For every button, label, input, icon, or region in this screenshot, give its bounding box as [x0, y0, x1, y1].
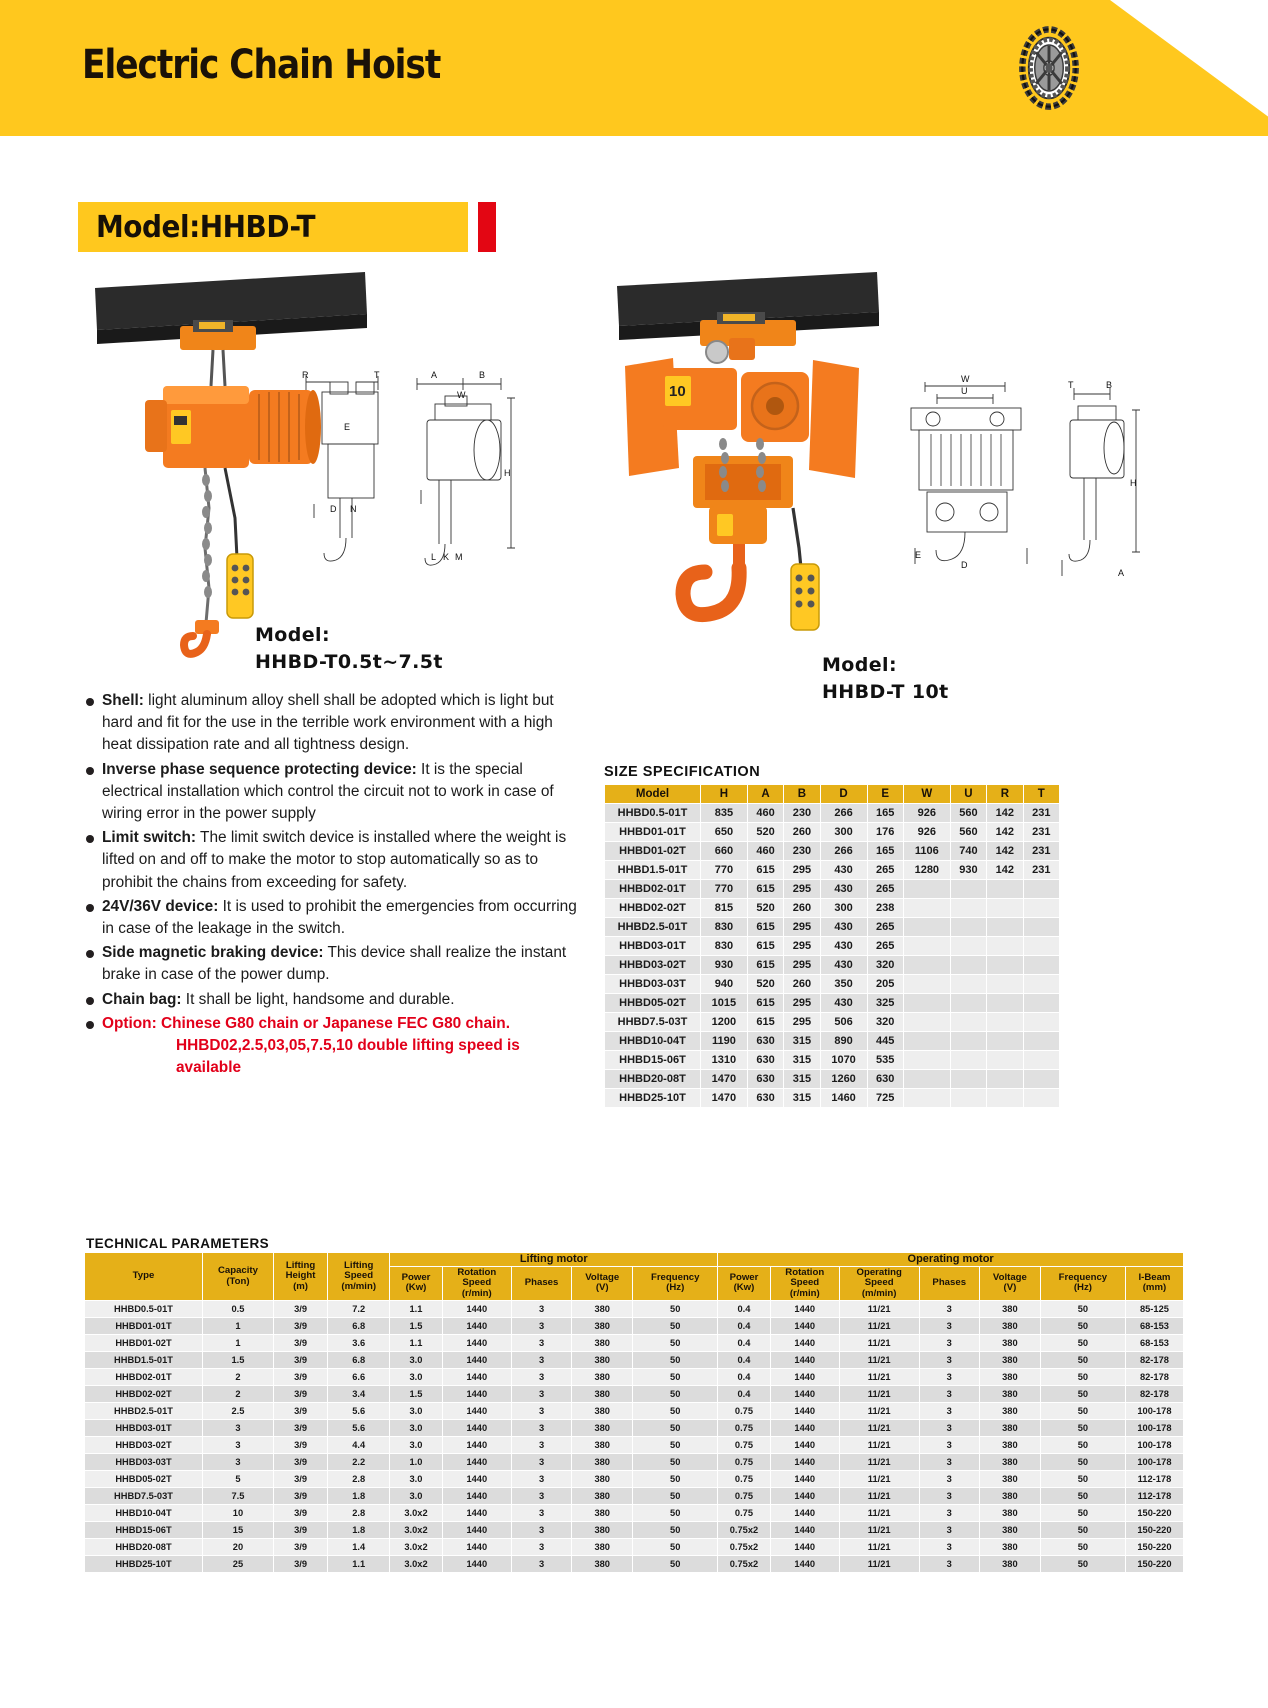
tech-value-cell: 50: [633, 1556, 718, 1573]
tech-value-cell: 50: [633, 1386, 718, 1403]
tech-value-cell: 50: [633, 1471, 718, 1488]
svg-text:A: A: [1118, 568, 1124, 578]
tech-value-cell: 3: [919, 1488, 979, 1505]
tech-value-cell: 3: [511, 1386, 571, 1403]
tech-value-cell: 3/9: [273, 1539, 327, 1556]
tech-value-cell: 1440: [442, 1403, 511, 1420]
feature-body: It shall be light, handsome and durable.: [182, 991, 455, 1008]
tech-value-cell: 3/9: [273, 1437, 327, 1454]
tech-value-cell: 0.75: [718, 1454, 770, 1471]
feature-text: Option: Chinese G80 chain or Japanese FE…: [102, 1013, 586, 1080]
tech-type-cell: HHBD0.5-01T: [85, 1301, 203, 1318]
size-value-cell: 630: [747, 1089, 783, 1108]
tech-col-header: Frequency(Hz): [633, 1266, 718, 1301]
tech-value-cell: 1.0: [390, 1454, 442, 1471]
tech-value-cell: 3/9: [273, 1318, 327, 1335]
tech-table-row: HHBD02-01T23/96.63.014403380500.4144011/…: [85, 1369, 1184, 1386]
svg-text:H: H: [1130, 478, 1137, 488]
tech-value-cell: 0.75: [718, 1505, 770, 1522]
svg-text:B: B: [1106, 380, 1112, 390]
tech-value-cell: 3: [919, 1471, 979, 1488]
tech-value-cell: 2.8: [328, 1505, 390, 1522]
tech-value-cell: 82-178: [1125, 1386, 1183, 1403]
tech-value-cell: 1.5: [390, 1318, 442, 1335]
size-value-cell: 231: [1023, 861, 1059, 880]
size-value-cell: [987, 956, 1023, 975]
tech-value-cell: 380: [572, 1403, 633, 1420]
size-value-cell: 460: [747, 804, 783, 823]
tech-type-cell: HHBD1.5-01T: [85, 1352, 203, 1369]
size-value-cell: 315: [784, 1032, 820, 1051]
svg-text:L: L: [431, 552, 436, 562]
svg-text:H: H: [504, 468, 511, 478]
tech-value-cell: 1.8: [328, 1488, 390, 1505]
size-value-cell: 295: [784, 880, 820, 899]
feature-term: Limit switch:: [102, 829, 196, 846]
tech-value-cell: 150-220: [1125, 1505, 1183, 1522]
tech-value-cell: 3: [919, 1369, 979, 1386]
tech-value-cell: 5.6: [328, 1420, 390, 1437]
size-value-cell: 630: [747, 1032, 783, 1051]
tech-value-cell: 1440: [442, 1420, 511, 1437]
size-value-cell: 770: [701, 880, 748, 899]
size-value-cell: 430: [820, 956, 867, 975]
tech-value-cell: 3: [511, 1471, 571, 1488]
tech-table-row: HHBD2.5-01T2.53/95.63.014403380500.75144…: [85, 1403, 1184, 1420]
size-col-header: D: [820, 785, 867, 804]
size-col-header: W: [903, 785, 950, 804]
size-value-cell: 230: [784, 804, 820, 823]
feature-text: Chain bag: It shall be light, handsome a…: [102, 989, 454, 1011]
size-specification-table: ModelHABDEWURT HHBD0.5-01T83546023026616…: [604, 784, 1060, 1108]
size-col-header: H: [701, 785, 748, 804]
size-value-cell: 231: [1023, 823, 1059, 842]
tech-value-cell: 1440: [442, 1539, 511, 1556]
size-value-cell: 1260: [820, 1070, 867, 1089]
size-value-cell: 615: [747, 956, 783, 975]
feature-item: Option: Chinese G80 chain or Japanese FE…: [86, 1013, 586, 1080]
tech-value-cell: 3: [919, 1437, 979, 1454]
size-value-cell: 520: [747, 975, 783, 994]
size-value-cell: 142: [987, 842, 1023, 861]
tech-value-cell: 50: [1040, 1488, 1125, 1505]
tech-value-cell: 3.0: [390, 1369, 442, 1386]
tech-type-cell: HHBD02-02T: [85, 1386, 203, 1403]
tech-value-cell: 82-178: [1125, 1352, 1183, 1369]
tech-value-cell: 1440: [442, 1352, 511, 1369]
technical-parameters-table: TypeCapacity(Ton)LiftingHeight(m)Lifting…: [84, 1252, 1184, 1573]
tech-value-cell: 380: [572, 1505, 633, 1522]
size-model-cell: HHBD05-02T: [605, 994, 701, 1013]
feature-item: Limit switch: The limit switch device is…: [86, 827, 586, 894]
size-value-cell: [1023, 975, 1059, 994]
hoist-dimension-diagram-small-right: AB WH LKM: [405, 368, 525, 583]
size-value-cell: [1023, 1070, 1059, 1089]
size-value-cell: 1015: [701, 994, 748, 1013]
size-model-cell: HHBD25-10T: [605, 1089, 701, 1108]
bullet-dot-icon: [86, 767, 94, 775]
feature-term: 24V/36V device:: [102, 898, 218, 915]
tech-value-cell: 3: [511, 1352, 571, 1369]
tech-value-cell: 1440: [770, 1318, 839, 1335]
feature-body: Chinese G80 chain or Japanese FEC G80 ch…: [157, 1015, 510, 1032]
tech-table-row: HHBD03-03T33/92.21.014403380500.75144011…: [85, 1454, 1184, 1471]
size-value-cell: 300: [820, 899, 867, 918]
feature-term: Shell:: [102, 692, 144, 709]
sprocket-chain-logo-icon: [1000, 22, 1098, 114]
tech-value-cell: 380: [572, 1471, 633, 1488]
svg-text:M: M: [455, 552, 463, 562]
tech-value-cell: 3: [511, 1318, 571, 1335]
tech-value-cell: 3: [511, 1301, 571, 1318]
tech-value-cell: 1440: [442, 1454, 511, 1471]
feature-text: Inverse phase sequence protecting device…: [102, 759, 586, 826]
tech-value-cell: 1.1: [390, 1335, 442, 1352]
tech-value-cell: 380: [979, 1454, 1040, 1471]
tech-value-cell: 82-178: [1125, 1369, 1183, 1386]
tech-value-cell: 3/9: [273, 1386, 327, 1403]
size-model-cell: HHBD01-01T: [605, 823, 701, 842]
tech-value-cell: 3: [203, 1437, 274, 1454]
tech-value-cell: 380: [979, 1301, 1040, 1318]
tech-value-cell: 3: [511, 1488, 571, 1505]
tech-value-cell: 1: [203, 1318, 274, 1335]
svg-text:K: K: [443, 552, 449, 562]
size-value-cell: [1023, 956, 1059, 975]
size-value-cell: 430: [820, 994, 867, 1013]
tech-value-cell: 3/9: [273, 1488, 327, 1505]
tech-value-cell: 1440: [442, 1488, 511, 1505]
size-table-row: HHBD0.5-01T835460230266165926560142231: [605, 804, 1060, 823]
size-value-cell: [950, 956, 986, 975]
tech-table-row: HHBD15-06T153/91.83.0x214403380500.75x21…: [85, 1522, 1184, 1539]
size-value-cell: 165: [867, 804, 903, 823]
size-value-cell: 295: [784, 861, 820, 880]
size-value-cell: [903, 956, 950, 975]
tech-value-cell: 3: [511, 1369, 571, 1386]
size-value-cell: 265: [867, 918, 903, 937]
size-value-cell: 615: [747, 1013, 783, 1032]
bullet-dot-icon: [86, 997, 94, 1005]
feature-item: 24V/36V device: It is used to prohibit t…: [86, 896, 586, 940]
size-value-cell: 770: [701, 861, 748, 880]
size-value-cell: [987, 994, 1023, 1013]
tech-value-cell: 3: [511, 1403, 571, 1420]
caption-large-line1: Model:: [822, 652, 949, 679]
size-value-cell: 506: [820, 1013, 867, 1032]
hoist-photo-large: 10: [605, 268, 905, 688]
tech-value-cell: 50: [633, 1437, 718, 1454]
size-value-cell: 830: [701, 937, 748, 956]
size-value-cell: 295: [784, 994, 820, 1013]
tech-value-cell: 3/9: [273, 1335, 327, 1352]
tech-value-cell: 3: [203, 1420, 274, 1437]
tech-value-cell: 3: [511, 1420, 571, 1437]
tech-value-cell: 1440: [442, 1522, 511, 1539]
tech-value-cell: 0.5: [203, 1301, 274, 1318]
tech-value-cell: 3: [919, 1420, 979, 1437]
tech-value-cell: 50: [633, 1454, 718, 1471]
tech-value-cell: 100-178: [1125, 1420, 1183, 1437]
caption-small-line2: HHBD-T0.5t~7.5t: [255, 649, 443, 676]
svg-text:B: B: [479, 370, 485, 380]
size-value-cell: 300: [820, 823, 867, 842]
tech-table-row: HHBD01-01T13/96.81.514403380500.4144011/…: [85, 1318, 1184, 1335]
size-value-cell: [950, 975, 986, 994]
size-value-cell: 325: [867, 994, 903, 1013]
size-value-cell: 1310: [701, 1051, 748, 1070]
tech-col-header: Power(Kw): [718, 1266, 770, 1301]
feature-item: Side magnetic braking device: This devic…: [86, 942, 586, 986]
tech-value-cell: 50: [1040, 1301, 1125, 1318]
tech-value-cell: 1440: [442, 1335, 511, 1352]
size-value-cell: [903, 918, 950, 937]
tech-value-cell: 3.0: [390, 1437, 442, 1454]
size-col-header: T: [1023, 785, 1059, 804]
tech-type-cell: HHBD2.5-01T: [85, 1403, 203, 1420]
size-value-cell: 630: [747, 1070, 783, 1089]
size-value-cell: 142: [987, 804, 1023, 823]
tech-table-row: HHBD01-02T13/93.61.114403380500.4144011/…: [85, 1335, 1184, 1352]
feature-text: Shell: light aluminum alloy shell shall …: [102, 690, 586, 757]
svg-text:T: T: [1068, 380, 1074, 390]
tech-value-cell: 380: [572, 1369, 633, 1386]
tech-value-cell: 11/21: [839, 1437, 919, 1454]
tech-table-row: HHBD03-02T33/94.43.014403380500.75144011…: [85, 1437, 1184, 1454]
tech-value-cell: 3/9: [273, 1352, 327, 1369]
size-value-cell: [1023, 994, 1059, 1013]
tech-value-cell: 50: [633, 1420, 718, 1437]
size-value-cell: 930: [701, 956, 748, 975]
tech-value-cell: 11/21: [839, 1522, 919, 1539]
tech-value-cell: 1.5: [203, 1352, 274, 1369]
size-table-header-row: ModelHABDEWURT: [605, 785, 1060, 804]
size-value-cell: [1023, 899, 1059, 918]
tech-value-cell: 1440: [770, 1454, 839, 1471]
size-value-cell: [987, 1070, 1023, 1089]
tech-value-cell: 1440: [770, 1539, 839, 1556]
size-value-cell: [903, 1051, 950, 1070]
tech-value-cell: 0.4: [718, 1318, 770, 1335]
svg-text:10: 10: [669, 383, 686, 400]
size-table-row: HHBD01-02T6604602302661651106740142231: [605, 842, 1060, 861]
bullet-dot-icon: [86, 835, 94, 843]
size-value-cell: 615: [747, 994, 783, 1013]
hoist-dimension-diagram-small-left: RT EDN: [300, 368, 410, 578]
feature-text: Side magnetic braking device: This devic…: [102, 942, 586, 986]
size-table-row: HHBD15-06T13106303151070535: [605, 1051, 1060, 1070]
tech-value-cell: 50: [1040, 1369, 1125, 1386]
tech-value-cell: 380: [572, 1488, 633, 1505]
tech-type-cell: HHBD03-02T: [85, 1437, 203, 1454]
bullet-dot-icon: [86, 1021, 94, 1029]
size-value-cell: [950, 1032, 986, 1051]
tech-value-cell: 1: [203, 1335, 274, 1352]
tech-value-cell: 2.5: [203, 1403, 274, 1420]
tech-value-cell: 1440: [770, 1335, 839, 1352]
size-col-header: E: [867, 785, 903, 804]
feature-term: Inverse phase sequence protecting device…: [102, 761, 417, 778]
tech-value-cell: 50: [633, 1539, 718, 1556]
tech-value-cell: 0.4: [718, 1352, 770, 1369]
size-value-cell: 560: [950, 804, 986, 823]
tech-type-cell: HHBD25-10T: [85, 1556, 203, 1573]
tech-table-row: HHBD05-02T53/92.83.014403380500.75144011…: [85, 1471, 1184, 1488]
size-value-cell: 238: [867, 899, 903, 918]
size-col-header: U: [950, 785, 986, 804]
tech-value-cell: 380: [979, 1522, 1040, 1539]
tech-value-cell: 380: [979, 1471, 1040, 1488]
size-value-cell: 1460: [820, 1089, 867, 1108]
tech-value-cell: 2.2: [328, 1454, 390, 1471]
tech-value-cell: 50: [1040, 1471, 1125, 1488]
size-value-cell: 320: [867, 1013, 903, 1032]
tech-col-header: Power(Kw): [390, 1266, 442, 1301]
tech-value-cell: 380: [979, 1488, 1040, 1505]
feature-item: Chain bag: It shall be light, handsome a…: [86, 989, 586, 1011]
features-list: Shell: light aluminum alloy shell shall …: [86, 690, 586, 1081]
svg-text:A: A: [431, 370, 437, 380]
tech-value-cell: 3/9: [273, 1556, 327, 1573]
size-value-cell: 740: [950, 842, 986, 861]
size-model-cell: HHBD01-02T: [605, 842, 701, 861]
tech-type-cell: HHBD7.5-03T: [85, 1488, 203, 1505]
size-value-cell: 1470: [701, 1070, 748, 1089]
tech-table-row: HHBD20-08T203/91.43.0x214403380500.75x21…: [85, 1539, 1184, 1556]
tech-value-cell: 3/9: [273, 1420, 327, 1437]
svg-text:E: E: [344, 422, 350, 432]
tech-value-cell: 1.8: [328, 1522, 390, 1539]
tech-value-cell: 0.75x2: [718, 1556, 770, 1573]
tech-value-cell: 6.8: [328, 1352, 390, 1369]
size-model-cell: HHBD03-02T: [605, 956, 701, 975]
size-value-cell: 630: [747, 1051, 783, 1070]
tech-value-cell: 1440: [770, 1369, 839, 1386]
size-table-row: HHBD01-01T650520260300176926560142231: [605, 823, 1060, 842]
tech-value-cell: 1440: [442, 1505, 511, 1522]
size-value-cell: 266: [820, 842, 867, 861]
size-model-cell: HHBD1.5-01T: [605, 861, 701, 880]
caption-large-line2: HHBD-T 10t: [822, 679, 949, 706]
tech-value-cell: 1440: [770, 1420, 839, 1437]
tech-value-cell: 0.75: [718, 1471, 770, 1488]
size-value-cell: 295: [784, 918, 820, 937]
tech-value-cell: 100-178: [1125, 1437, 1183, 1454]
tech-value-cell: 3: [511, 1335, 571, 1352]
svg-text:D: D: [330, 504, 337, 514]
size-value-cell: 940: [701, 975, 748, 994]
size-value-cell: 231: [1023, 804, 1059, 823]
size-value-cell: 1280: [903, 861, 950, 880]
tech-value-cell: 50: [1040, 1352, 1125, 1369]
tech-value-cell: 380: [979, 1556, 1040, 1573]
tech-value-cell: 3.0: [390, 1471, 442, 1488]
tech-value-cell: 50: [1040, 1539, 1125, 1556]
tech-value-cell: 10: [203, 1505, 274, 1522]
feature-term: Side magnetic braking device:: [102, 944, 324, 961]
tech-col-header: Type: [85, 1253, 203, 1301]
tech-col-header: Voltage(V): [979, 1266, 1040, 1301]
model-badge-label: Model:HHBD-T: [96, 210, 315, 245]
tech-value-cell: 0.75x2: [718, 1539, 770, 1556]
svg-text:D: D: [961, 560, 968, 570]
tech-value-cell: 3: [511, 1556, 571, 1573]
size-value-cell: 260: [784, 899, 820, 918]
size-model-cell: HHBD20-08T: [605, 1070, 701, 1089]
technical-parameters-title: TECHNICAL PARAMETERS: [86, 1236, 269, 1251]
tech-value-cell: 3: [919, 1352, 979, 1369]
size-model-cell: HHBD7.5-03T: [605, 1013, 701, 1032]
size-table-row: HHBD03-01T830615295430265: [605, 937, 1060, 956]
size-value-cell: 350: [820, 975, 867, 994]
tech-value-cell: 1440: [770, 1505, 839, 1522]
tech-value-cell: 0.75: [718, 1437, 770, 1454]
tech-value-cell: 11/21: [839, 1454, 919, 1471]
size-value-cell: 315: [784, 1070, 820, 1089]
size-value-cell: 230: [784, 842, 820, 861]
tech-col-header: Frequency(Hz): [1040, 1266, 1125, 1301]
size-value-cell: [987, 918, 1023, 937]
size-value-cell: 142: [987, 823, 1023, 842]
size-value-cell: [987, 1051, 1023, 1070]
tech-value-cell: 380: [572, 1352, 633, 1369]
svg-text:N: N: [350, 504, 357, 514]
svg-text:T: T: [374, 370, 380, 380]
size-value-cell: 265: [867, 861, 903, 880]
tech-type-cell: HHBD20-08T: [85, 1539, 203, 1556]
tech-type-cell: HHBD10-04T: [85, 1505, 203, 1522]
tech-value-cell: 11/21: [839, 1488, 919, 1505]
size-value-cell: [1023, 1032, 1059, 1051]
tech-value-cell: 85-125: [1125, 1301, 1183, 1318]
size-value-cell: [1023, 1051, 1059, 1070]
tech-value-cell: 6.6: [328, 1369, 390, 1386]
tech-value-cell: 1440: [770, 1556, 839, 1573]
tech-value-cell: 3: [511, 1539, 571, 1556]
size-table-row: HHBD7.5-03T1200615295506320: [605, 1013, 1060, 1032]
tech-type-cell: HHBD05-02T: [85, 1471, 203, 1488]
tech-value-cell: 3/9: [273, 1403, 327, 1420]
tech-value-cell: 20: [203, 1539, 274, 1556]
size-value-cell: 650: [701, 823, 748, 842]
tech-value-cell: 1440: [442, 1437, 511, 1454]
tech-value-cell: 50: [1040, 1454, 1125, 1471]
size-value-cell: [987, 880, 1023, 899]
size-col-header: A: [747, 785, 783, 804]
caption-small-line1: Model:: [255, 622, 443, 649]
size-model-cell: HHBD02-02T: [605, 899, 701, 918]
tech-table-row: HHBD03-01T33/95.63.014403380500.75144011…: [85, 1420, 1184, 1437]
size-value-cell: [950, 1051, 986, 1070]
tech-value-cell: 380: [979, 1318, 1040, 1335]
tech-value-cell: 11/21: [839, 1318, 919, 1335]
tech-value-cell: 6.8: [328, 1318, 390, 1335]
size-value-cell: 260: [784, 975, 820, 994]
tech-value-cell: 1440: [770, 1403, 839, 1420]
tech-value-cell: 3/9: [273, 1301, 327, 1318]
svg-text:U: U: [961, 386, 968, 396]
size-col-header: R: [987, 785, 1023, 804]
size-value-cell: 835: [701, 804, 748, 823]
tech-value-cell: 380: [572, 1539, 633, 1556]
size-value-cell: [903, 1032, 950, 1051]
feature-term: Option:: [102, 1015, 157, 1032]
feature-text: 24V/36V device: It is used to prohibit t…: [102, 896, 586, 940]
tech-value-cell: 1.4: [328, 1539, 390, 1556]
size-col-header: Model: [605, 785, 701, 804]
tech-col-header: RotationSpeed(r/min): [770, 1266, 839, 1301]
tech-value-cell: 50: [1040, 1420, 1125, 1437]
